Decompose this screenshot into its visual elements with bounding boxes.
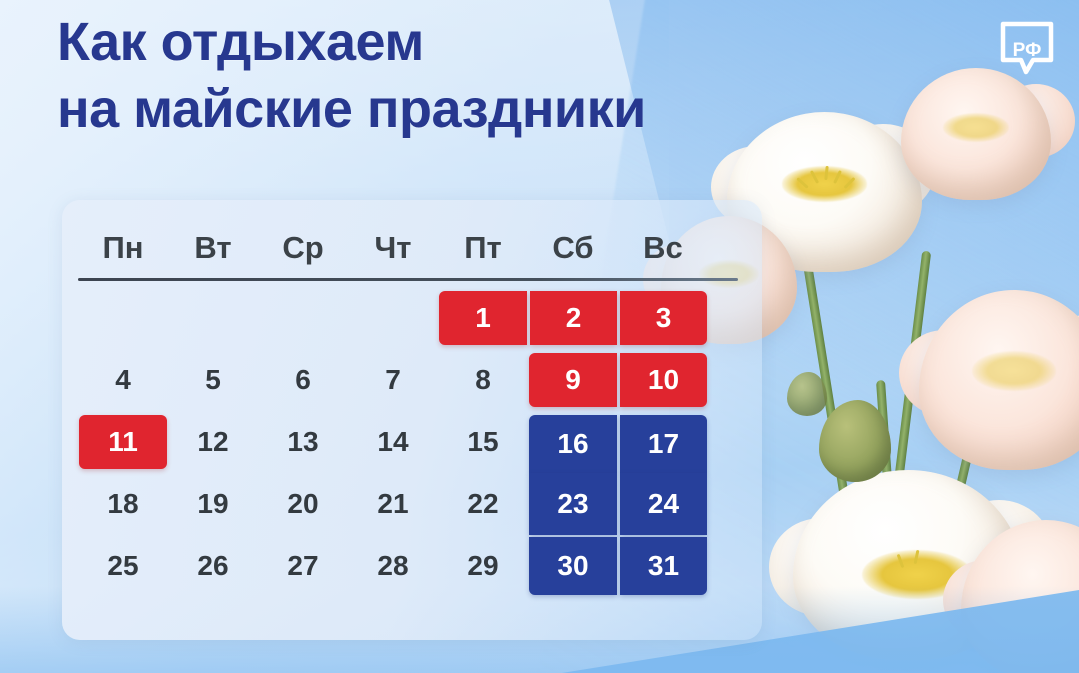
calendar-day-workday: 12 <box>168 411 258 473</box>
calendar-day-workday: 8 <box>438 349 528 411</box>
day-chip: 23 <box>529 473 617 535</box>
weekday-mon: Пн <box>78 220 168 276</box>
calendar-day-weekend: 24 <box>618 473 708 535</box>
calendar-cell-empty <box>258 287 348 349</box>
calendar-week-row: 123 <box>78 287 746 349</box>
calendar-header-divider <box>78 278 738 281</box>
calendar-day-workday: 14 <box>348 411 438 473</box>
day-number: 6 <box>295 364 311 396</box>
calendar-cell-empty <box>168 287 258 349</box>
calendar-grid: 1234567891011121314151617181920212223242… <box>78 287 746 597</box>
day-number: 14 <box>377 426 408 458</box>
day-chip: 31 <box>620 537 707 595</box>
day-chip: 3 <box>620 291 707 345</box>
day-number: 20 <box>287 488 318 520</box>
day-number: 21 <box>377 488 408 520</box>
day-chip: 11 <box>79 415 167 469</box>
calendar-day-weekend: 17 <box>618 411 708 473</box>
day-number: 25 <box>107 550 138 582</box>
weekday-wed: Ср <box>258 220 348 276</box>
calendar-day-workday: 18 <box>78 473 168 535</box>
day-chip: 9 <box>529 353 617 407</box>
day-number: 28 <box>377 550 408 582</box>
weekday-sat: Сб <box>528 220 618 276</box>
calendar-day-workday: 28 <box>348 535 438 597</box>
calendar-day-holiday: 11 <box>78 411 168 473</box>
calendar-day-workday: 15 <box>438 411 528 473</box>
calendar-day-holiday: 1 <box>438 287 528 349</box>
calendar-cell-empty <box>78 287 168 349</box>
calendar-week-row: 11121314151617 <box>78 411 746 473</box>
day-number: 27 <box>287 550 318 582</box>
day-number: 15 <box>467 426 498 458</box>
page-title-line2: на майские праздники <box>57 81 877 138</box>
calendar-day-holiday: 10 <box>618 349 708 411</box>
day-number: 26 <box>197 550 228 582</box>
calendar-week-row: 45678910 <box>78 349 746 411</box>
calendar-day-workday: 22 <box>438 473 528 535</box>
calendar-day-weekend: 30 <box>528 535 618 597</box>
calendar-day-workday: 20 <box>258 473 348 535</box>
calendar-day-workday: 27 <box>258 535 348 597</box>
day-chip: 30 <box>529 537 617 595</box>
day-chip: 17 <box>620 415 707 473</box>
day-number: 8 <box>475 364 491 396</box>
calendar-week-row: 18192021222324 <box>78 473 746 535</box>
calendar-week-row: 25262728293031 <box>78 535 746 597</box>
day-number: 12 <box>197 426 228 458</box>
weekday-thu: Чт <box>348 220 438 276</box>
rf-logo: РФ <box>999 20 1055 80</box>
calendar-day-workday: 7 <box>348 349 438 411</box>
calendar-day-workday: 13 <box>258 411 348 473</box>
calendar-day-workday: 25 <box>78 535 168 597</box>
day-number: 7 <box>385 364 401 396</box>
weekday-tue: Вт <box>168 220 258 276</box>
day-number: 29 <box>467 550 498 582</box>
poppy-bud <box>787 372 827 416</box>
poppy-flower-pink <box>901 68 1051 200</box>
day-chip: 10 <box>620 353 707 407</box>
calendar: Пн Вт Ср Чт Пт Сб Вс 1234567891011121314… <box>78 220 746 597</box>
calendar-day-weekend: 16 <box>528 411 618 473</box>
day-number: 22 <box>467 488 498 520</box>
day-number: 18 <box>107 488 138 520</box>
day-number: 13 <box>287 426 318 458</box>
day-chip: 2 <box>530 291 617 345</box>
calendar-day-holiday: 2 <box>528 287 618 349</box>
infographic-stage: Как отдыхаем на майские праздники РФ Пн … <box>0 0 1079 673</box>
calendar-day-holiday: 9 <box>528 349 618 411</box>
day-number: 19 <box>197 488 228 520</box>
calendar-day-workday: 4 <box>78 349 168 411</box>
calendar-day-workday: 21 <box>348 473 438 535</box>
calendar-weekday-header: Пн Вт Ср Чт Пт Сб Вс <box>78 220 746 276</box>
calendar-day-workday: 5 <box>168 349 258 411</box>
calendar-day-workday: 26 <box>168 535 258 597</box>
day-number: 5 <box>205 364 221 396</box>
calendar-day-holiday: 3 <box>618 287 708 349</box>
calendar-day-workday: 29 <box>438 535 528 597</box>
calendar-day-workday: 6 <box>258 349 348 411</box>
weekday-fri: Пт <box>438 220 528 276</box>
poppy-flower-pink <box>919 290 1079 470</box>
calendar-panel: Пн Вт Ср Чт Пт Сб Вс 1234567891011121314… <box>62 200 762 640</box>
page-title: Как отдыхаем на майские праздники <box>57 14 877 137</box>
day-number: 4 <box>115 364 131 396</box>
page-title-line1: Как отдыхаем <box>57 12 424 72</box>
calendar-day-weekend: 23 <box>528 473 618 535</box>
calendar-day-weekend: 31 <box>618 535 708 597</box>
day-chip: 1 <box>439 291 527 345</box>
day-chip: 24 <box>620 473 707 535</box>
day-chip: 16 <box>529 415 617 473</box>
calendar-cell-empty <box>348 287 438 349</box>
calendar-day-workday: 19 <box>168 473 258 535</box>
svg-text:РФ: РФ <box>1013 40 1042 61</box>
weekday-sun: Вс <box>618 220 708 276</box>
